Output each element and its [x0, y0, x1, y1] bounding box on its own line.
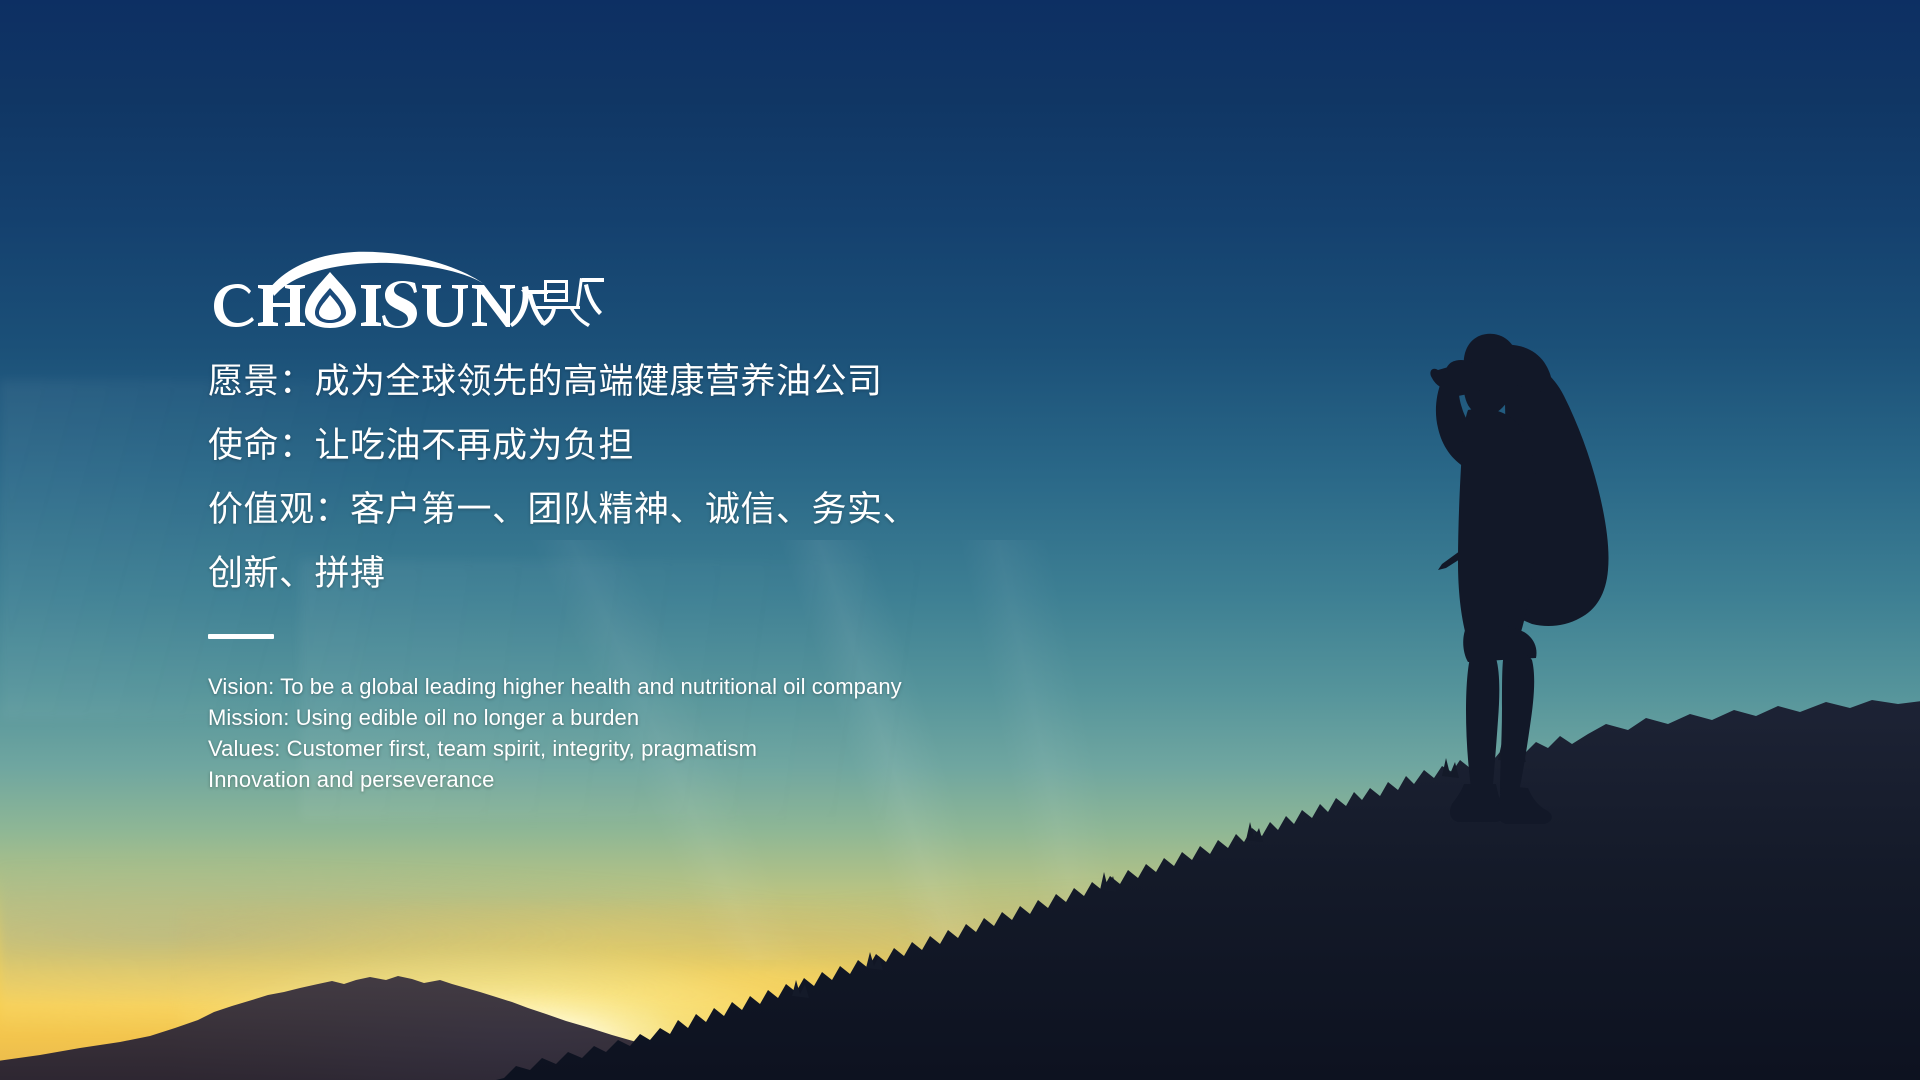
values-line-en-2: Innovation and perseverance	[208, 764, 1108, 795]
values-line-cn-1: 价值观：客户第一、团队精神、诚信、务实、	[208, 478, 1108, 542]
hero-slide: 愿景：成为全球领先的高端健康营养油公司 使命：让吃油不再成为负担 价值观：客户第…	[0, 0, 1920, 1080]
mission-line-cn: 使命：让吃油不再成为负担	[208, 414, 1108, 478]
divider-rule	[208, 634, 274, 639]
values-line-cn-2: 创新、拼搏	[208, 542, 1108, 606]
cjk-sheng	[536, 278, 604, 327]
vision-line-cn: 愿景：成为全球领先的高端健康营养油公司	[208, 350, 1108, 414]
values-line-en-1: Values: Customer first, team spirit, int…	[208, 733, 1108, 764]
hero-content: 愿景：成为全球领先的高端健康营养油公司 使命：让吃油不再成为负担 价值观：客户第…	[208, 250, 1108, 795]
sun-core	[400, 1000, 660, 1080]
arc-swoosh-icon	[270, 252, 484, 296]
statements-english: Vision: To be a global leading higher he…	[208, 671, 1108, 795]
brand-logo[interactable]	[208, 250, 548, 328]
vision-line-en: Vision: To be a global leading higher he…	[208, 671, 1108, 702]
statements-chinese: 愿景：成为全球领先的高端健康营养油公司 使命：让吃油不再成为负担 价值观：客户第…	[208, 350, 1108, 606]
mission-line-en: Mission: Using edible oil no longer a bu…	[208, 702, 1108, 733]
